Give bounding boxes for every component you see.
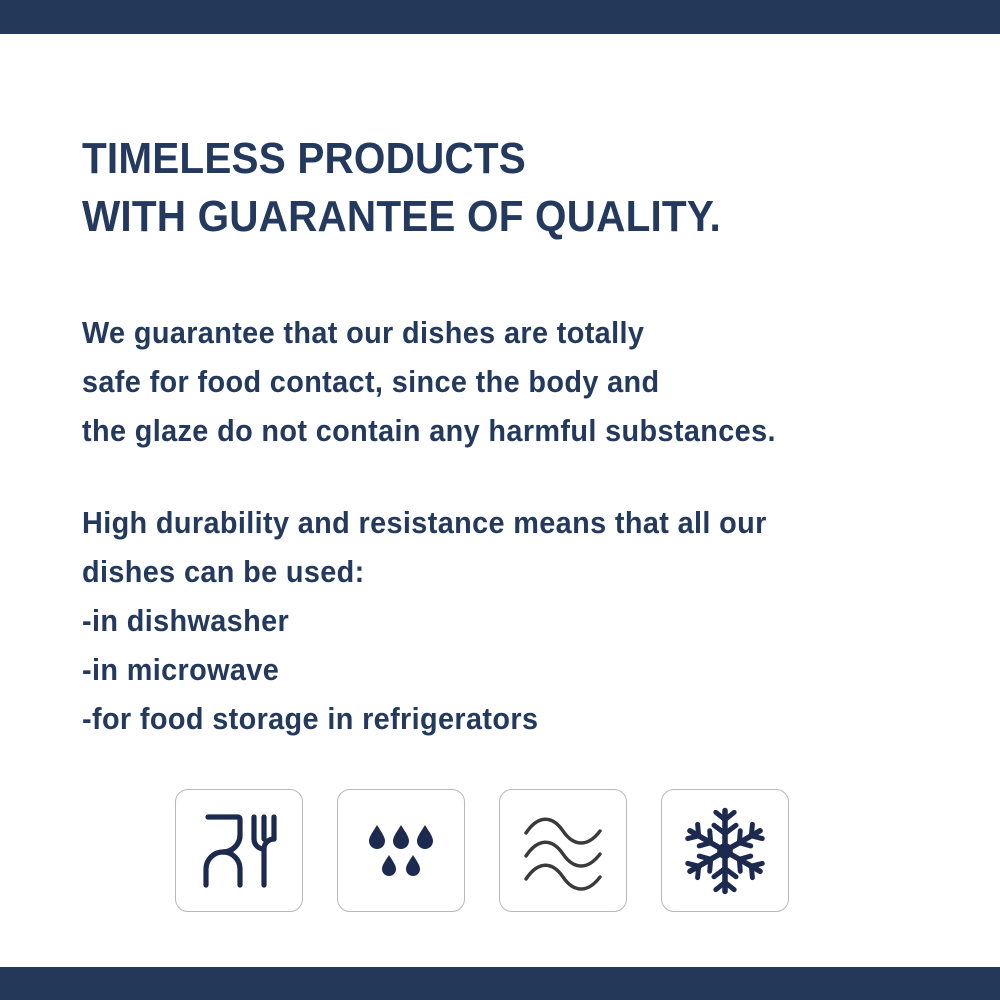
freezer-safe-icon-box: [661, 789, 789, 912]
microwave-safe-icon: [520, 811, 606, 891]
content-area: TIMELESS PRODUCTS WITH GUARANTEE OF QUAL…: [82, 34, 962, 743]
bottom-navy-band: [0, 967, 1000, 1000]
page-title-line-1: TIMELESS PRODUCTS: [82, 130, 892, 188]
usage-item-refrigerator: -for food storage in refrigerators: [82, 694, 900, 743]
dishwasher-safe-icon-box: [337, 789, 465, 912]
freezer-safe-icon: [679, 805, 771, 897]
top-navy-band: [0, 0, 1000, 34]
dishwasher-safe-icon: [361, 811, 441, 891]
food-safe-icon-box: [175, 789, 303, 912]
guarantee-paragraph: We guarantee that our dishes are totally…: [82, 308, 900, 455]
symbol-row: [175, 789, 789, 912]
usage-item-dishwasher: -in dishwasher: [82, 596, 900, 645]
guarantee-line-3: the glaze do not contain any harmful sub…: [82, 406, 900, 455]
page-title-line-2: WITH GUARANTEE OF QUALITY.: [82, 188, 892, 246]
guarantee-line-2: safe for food contact, since the body an…: [82, 357, 900, 406]
page-title: TIMELESS PRODUCTS WITH GUARANTEE OF QUAL…: [82, 34, 892, 246]
guarantee-line-1: We guarantee that our dishes are totally: [82, 308, 900, 357]
durability-paragraph: High durability and resistance means tha…: [82, 498, 900, 743]
usage-item-microwave: -in microwave: [82, 645, 900, 694]
microwave-safe-icon-box: [499, 789, 627, 912]
durability-line-2: dishes can be used:: [82, 547, 900, 596]
durability-line-1: High durability and resistance means tha…: [82, 498, 900, 547]
product-guarantee-page: TIMELESS PRODUCTS WITH GUARANTEE OF QUAL…: [0, 0, 1000, 1000]
food-safe-icon: [196, 808, 282, 894]
